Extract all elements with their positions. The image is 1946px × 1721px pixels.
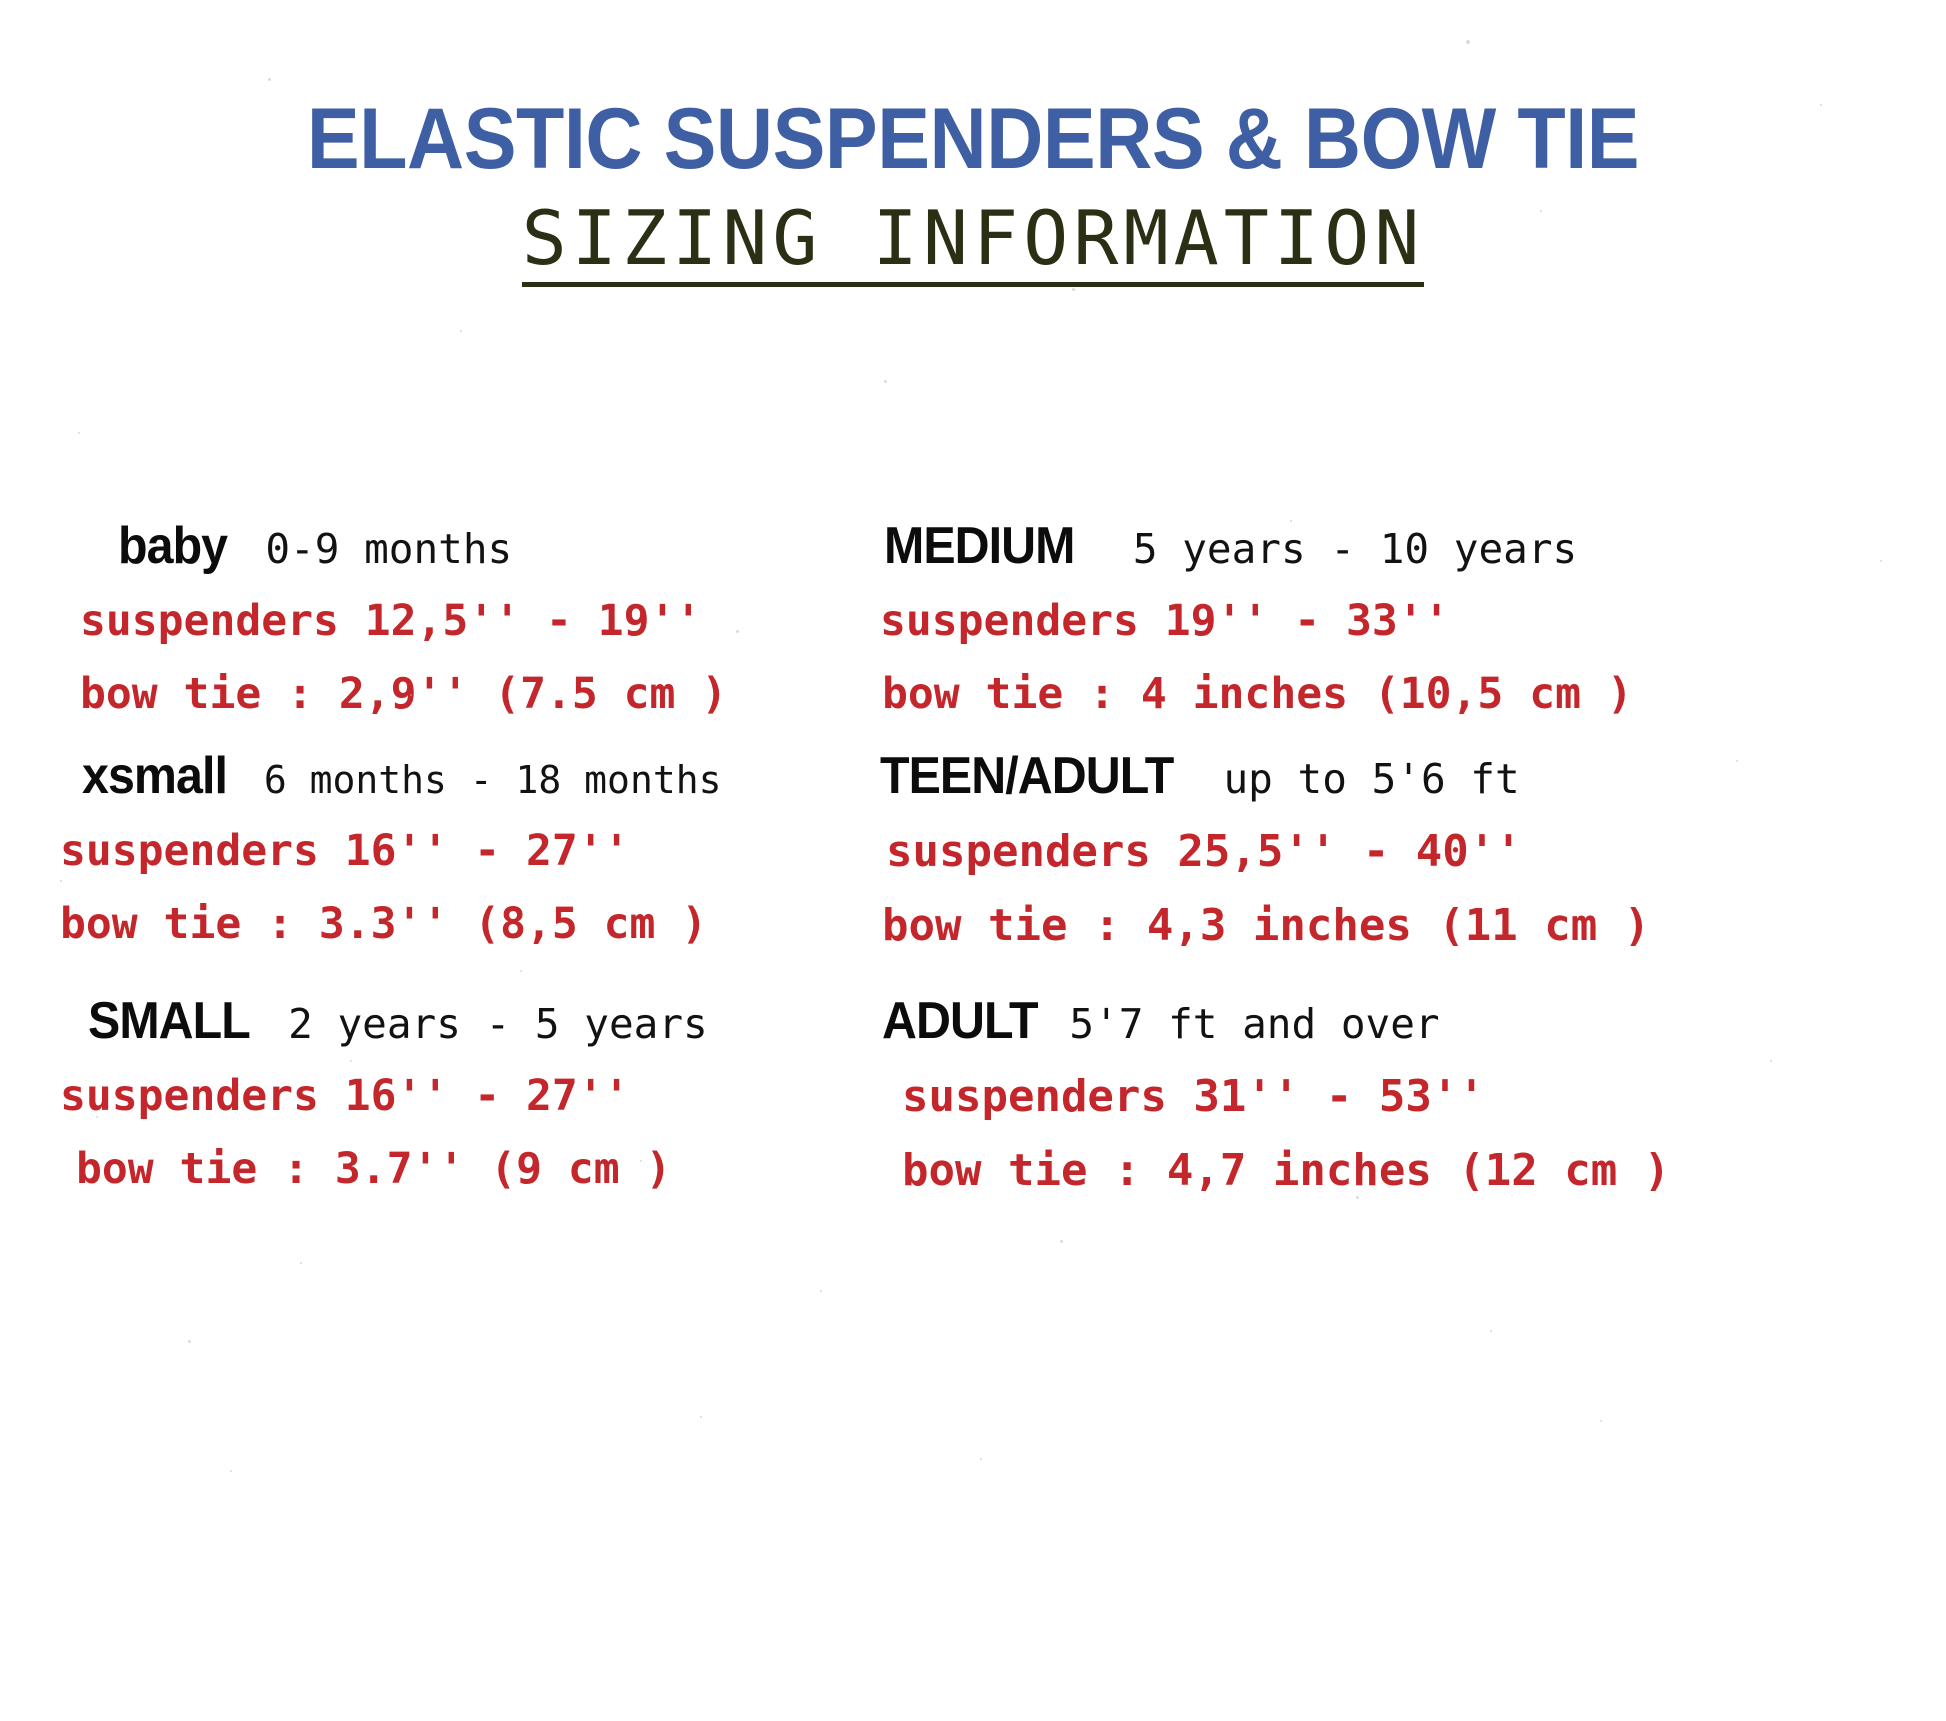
size-block-baby: baby0-9 months suspenders 12,5'' - 19'' … [60,520,940,716]
bow-tie-measurement: bow tie : 4,7 inches (12 cm ) [860,1149,1740,1193]
size-heading-small: SMALL2 years - 5 years [60,995,940,1047]
suspenders-measurement: suspenders 16'' - 27'' [60,1075,940,1118]
size-heading-teen-adult: TEEN/ADULTup to 5'6 ft [860,750,1740,802]
size-heading-medium: MEDIUM5 years - 10 years [860,520,1740,572]
header-subtitle-area: SIZING INFORMATION [0,196,1946,287]
size-label: MEDIUM [884,520,1075,572]
age-range-label: 2 years - 5 years [288,1004,708,1045]
size-block-xsmall: xsmall6 months - 18 months suspenders 16… [60,750,940,946]
page-subtitle: SIZING INFORMATION [522,196,1425,287]
size-label: SMALL [88,995,250,1047]
size-heading-baby: baby0-9 months [60,520,940,572]
age-range-label: 0-9 months [265,529,512,570]
age-range-label: up to 5'6 ft [1223,759,1519,800]
sizing-chart-sheet: ELASTIC SUSPENDERS & BOW TIE SIZING INFO… [0,0,1946,1721]
size-block-teen-adult: TEEN/ADULTup to 5'6 ft suspenders 25,5''… [860,750,1740,948]
bow-tie-measurement: bow tie : 2,9'' (7.5 cm ) [60,673,940,716]
size-label: TEEN/ADULT [880,750,1173,802]
suspenders-measurement: suspenders 12,5'' - 19'' [60,600,940,643]
bow-tie-measurement: bow tie : 3.7'' (9 cm ) [60,1148,940,1191]
suspenders-measurement: suspenders 31'' - 53'' [860,1075,1740,1119]
suspenders-measurement: suspenders 25,5'' - 40'' [860,830,1740,874]
bow-tie-measurement: bow tie : 3.3'' (8,5 cm ) [60,903,940,946]
size-label: baby [118,520,227,572]
header-title-area: ELASTIC SUSPENDERS & BOW TIE [0,96,1946,182]
size-block-adult: ADULT5'7 ft and over suspenders 31'' - 5… [860,995,1740,1193]
size-label: ADULT [882,995,1038,1047]
age-range-label: 5 years - 10 years [1133,529,1577,570]
suspenders-measurement: suspenders 19'' - 33'' [860,600,1740,643]
size-grid: baby0-9 months suspenders 12,5'' - 19'' … [0,520,1946,1420]
suspenders-measurement: suspenders 16'' - 27'' [60,830,940,873]
bow-tie-measurement: bow tie : 4,3 inches (11 cm ) [860,904,1740,948]
size-heading-adult: ADULT5'7 ft and over [860,995,1740,1047]
age-range-label: 6 months - 18 months [264,761,722,799]
size-block-medium: MEDIUM5 years - 10 years suspenders 19''… [860,520,1740,716]
size-label: xsmall [82,750,227,802]
age-range-label: 5'7 ft and over [1069,1004,1439,1045]
page-title: ELASTIC SUSPENDERS & BOW TIE [78,96,1868,182]
bow-tie-measurement: bow tie : 4 inches (10,5 cm ) [860,673,1740,716]
size-block-small: SMALL2 years - 5 years suspenders 16'' -… [60,995,940,1191]
size-heading-xsmall: xsmall6 months - 18 months [60,750,940,802]
